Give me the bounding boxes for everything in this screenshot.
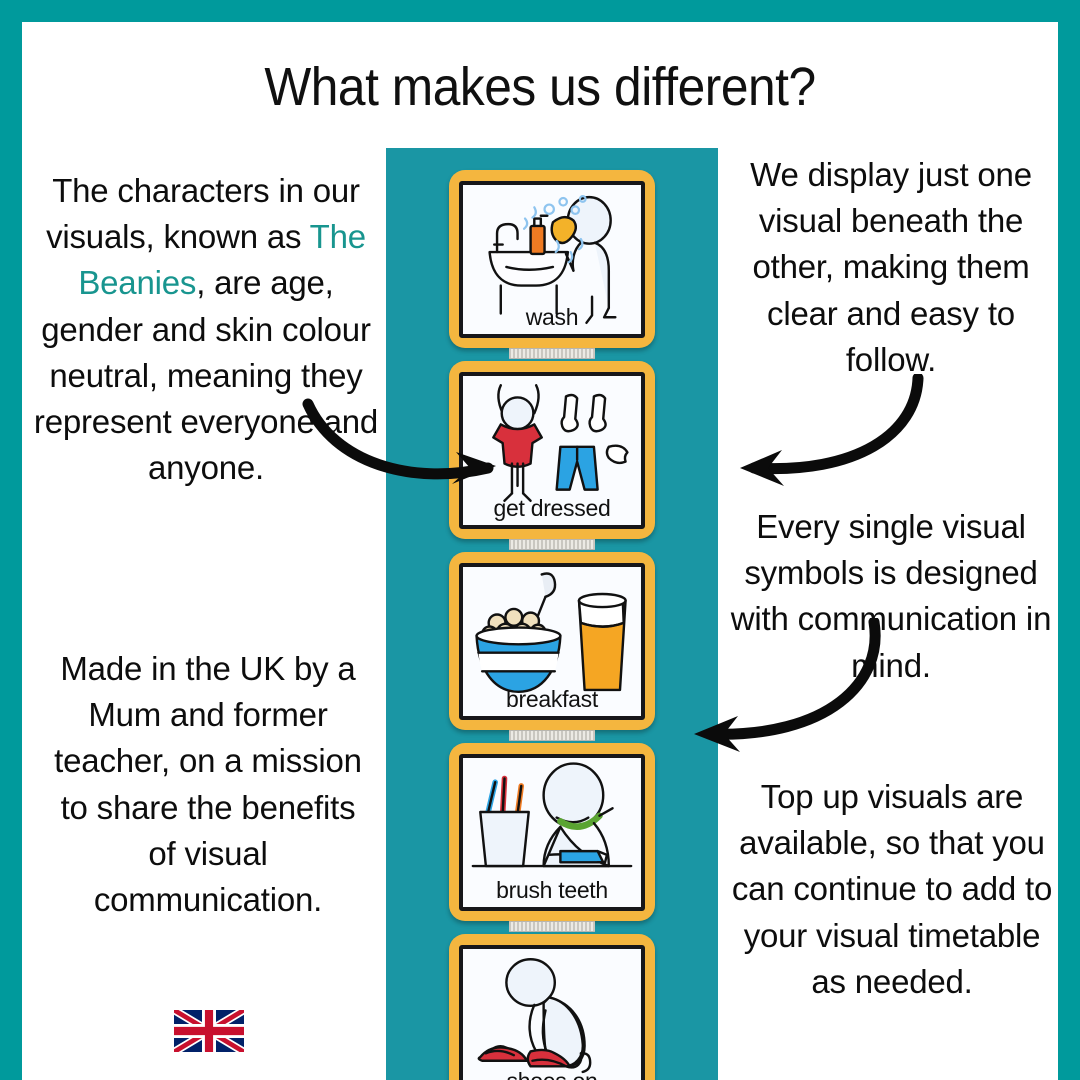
- card-inner: shoes on: [459, 945, 645, 1080]
- velcro-strip: [509, 539, 595, 550]
- card-label: wash: [463, 304, 641, 331]
- card-inner: get dressed: [459, 372, 645, 529]
- card-label: brush teeth: [463, 877, 641, 904]
- poster-canvas: What makes us different?: [22, 22, 1058, 1080]
- putting-on-shoes-icon: [463, 949, 641, 1080]
- card-inner: wash: [459, 181, 645, 338]
- page-title: What makes us different?: [63, 56, 1016, 118]
- paragraph-made-in-uk: Made in the UK by a Mum and former teach…: [48, 646, 368, 923]
- visual-timetable-strip: wash: [386, 148, 718, 1080]
- velcro-strip: [509, 730, 595, 741]
- poster-root: What makes us different?: [0, 0, 1080, 1080]
- paragraph-top-up-visuals: Top up visuals are available, so that yo…: [722, 774, 1058, 1005]
- velcro-strip: [509, 348, 595, 359]
- uk-flag-icon: [174, 1010, 244, 1052]
- paragraph-display-one-visual: We display just one visual beneath the o…: [718, 152, 1058, 383]
- timetable-card-shoes-on[interactable]: shoes on: [449, 934, 655, 1080]
- velcro-strip: [509, 921, 595, 932]
- paragraph-designed-for-communication: Every single visual symbols is designed …: [716, 504, 1058, 689]
- timetable-card-brush-teeth[interactable]: brush teeth: [449, 743, 655, 921]
- card-label: get dressed: [463, 495, 641, 522]
- card-label: shoes on: [463, 1068, 641, 1080]
- card-inner: breakfast: [459, 563, 645, 720]
- timetable-card-wash[interactable]: wash: [449, 170, 655, 348]
- card-label: breakfast: [463, 686, 641, 713]
- timetable-card-breakfast[interactable]: breakfast: [449, 552, 655, 730]
- timetable-card-get-dressed[interactable]: get dressed: [449, 361, 655, 539]
- card-inner: brush teeth: [459, 754, 645, 911]
- arrow-right-to-get-dressed-icon: [716, 374, 926, 494]
- paragraph-beanies: The characters in our visuals, known as …: [28, 168, 384, 491]
